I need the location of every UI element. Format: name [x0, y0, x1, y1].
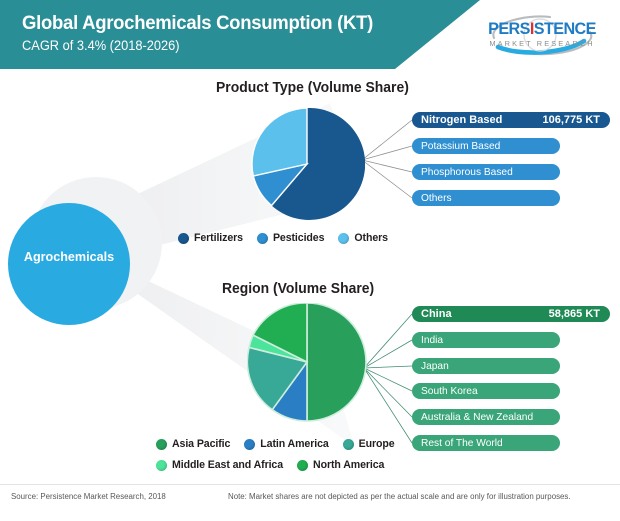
legend-item-asia-pacific: Asia Pacific — [156, 438, 230, 450]
label-name: Nitrogen Based — [412, 114, 502, 126]
product-label-potassium-based[interactable]: Potassium Based — [412, 138, 560, 154]
label-name: India — [412, 335, 443, 346]
legend-swatch-latin-america-icon — [244, 439, 255, 450]
legend-label: Middle East and Africa — [172, 459, 283, 471]
region-label-japan[interactable]: Japan — [412, 358, 560, 374]
label-name: Phosphorous Based — [412, 167, 513, 178]
footer-source: Source: Persistence Market Research, 201… — [11, 492, 166, 501]
label-name: Rest of The World — [412, 438, 503, 449]
product-chart-legend: Fertilizers Pesticides Others — [178, 232, 402, 244]
legend-item-pesticides: Pesticides — [257, 232, 324, 244]
label-value: 106,775 KT — [543, 114, 610, 126]
legend-swatch-fertilizers-icon — [178, 233, 189, 244]
legend-swatch-others-icon — [338, 233, 349, 244]
region-label-rest-of-the-world[interactable]: Rest of The World — [412, 435, 560, 451]
legend-label: North America — [313, 459, 384, 471]
legend-label: Latin America — [260, 438, 328, 450]
legend-item-fertilizers: Fertilizers — [178, 232, 243, 244]
legend-swatch-europe-icon — [343, 439, 354, 450]
product-label-phosphorous-based[interactable]: Phosphorous Based — [412, 164, 560, 180]
legend-item-latin-america: Latin America — [244, 438, 328, 450]
region-label-india[interactable]: India — [412, 332, 560, 348]
region-label-south-korea[interactable]: South Korea — [412, 383, 560, 399]
infographic-root: Global Agrochemicals Consumption (KT) CA… — [0, 0, 620, 521]
label-name: Others — [412, 193, 452, 204]
label-value: 58,865 KT — [549, 308, 610, 320]
product-label-others[interactable]: Others — [412, 190, 560, 206]
legend-swatch-asia-pacific-icon — [156, 439, 167, 450]
product-type-pie-chart — [250, 108, 365, 225]
legend-item-europe: Europe — [343, 438, 395, 450]
footer-note: Note: Market shares are not depicted as … — [228, 492, 571, 501]
legend-swatch-pesticides-icon — [257, 233, 268, 244]
footer-divider — [0, 484, 620, 485]
legend-label: Pesticides — [273, 232, 324, 244]
region-chart-legend-row-1: Asia Pacific Latin America Europe — [156, 438, 409, 450]
label-name: Australia & New Zealand — [412, 412, 533, 423]
legend-label: Others — [354, 232, 388, 244]
label-name: South Korea — [412, 386, 478, 397]
legend-item-north-america: North America — [297, 459, 384, 471]
region-chart-legend-row-2: Middle East and Africa North America — [156, 459, 398, 471]
product-label-nitrogen-based[interactable]: Nitrogen Based 106,775 KT — [412, 112, 610, 128]
legend-label: Europe — [359, 438, 395, 450]
legend-swatch-middle-east-and-africa-icon — [156, 460, 167, 471]
label-name: Japan — [412, 361, 449, 372]
legend-label: Asia Pacific — [172, 438, 230, 450]
legend-item-middle-east-and-africa: Middle East and Africa — [156, 459, 283, 471]
legend-swatch-north-america-icon — [297, 460, 308, 471]
legend-label: Fertilizers — [194, 232, 243, 244]
label-name: Potassium Based — [412, 141, 500, 152]
label-name: China — [412, 308, 452, 320]
legend-item-others: Others — [338, 232, 388, 244]
region-label-australia-new-zealand[interactable]: Australia & New Zealand — [412, 409, 560, 425]
region-label-china[interactable]: China 58,865 KT — [412, 306, 610, 322]
region-pie-chart — [247, 303, 369, 428]
